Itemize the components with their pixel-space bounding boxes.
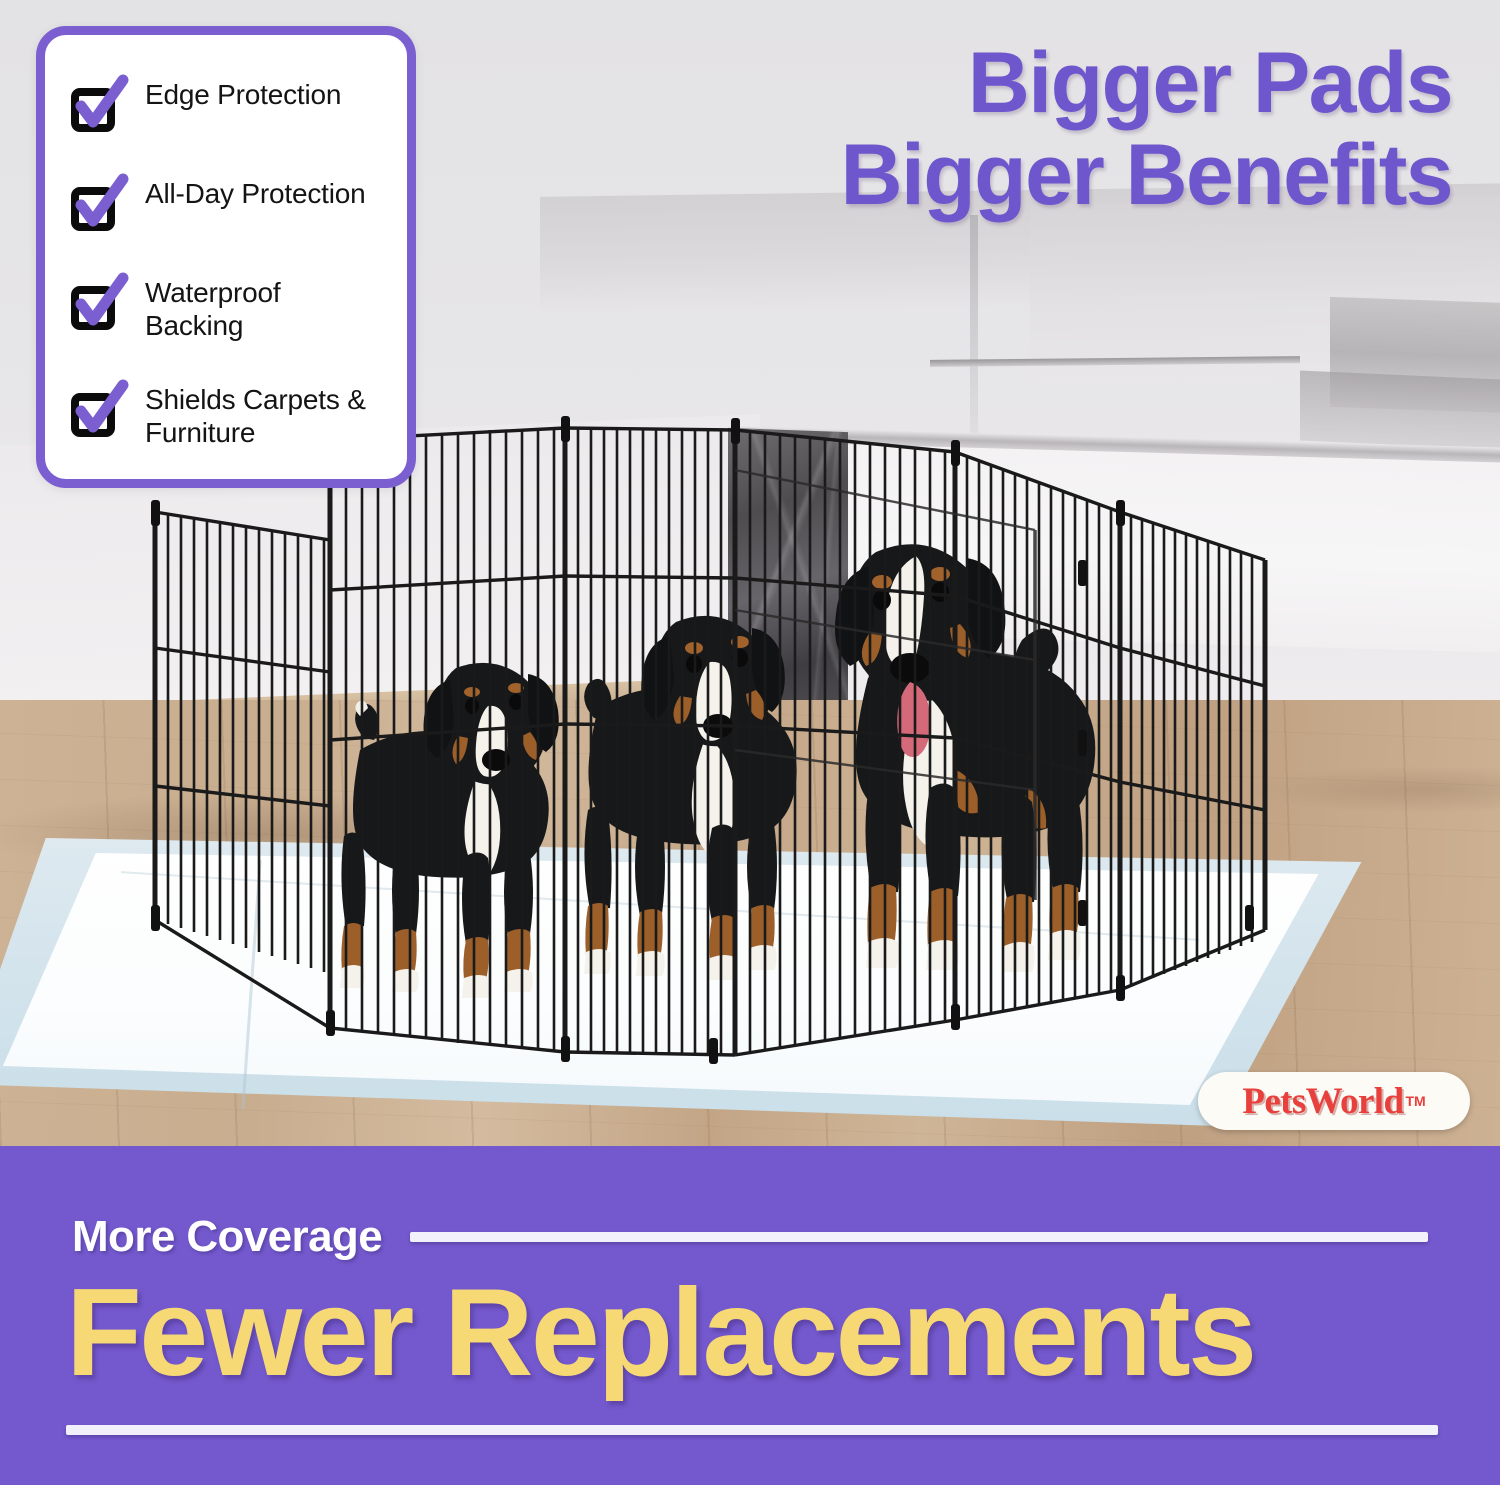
- banner-headline: Fewer Replacements: [66, 1268, 1446, 1398]
- checkbox-check-icon: [67, 383, 129, 441]
- banner-eyebrow: More Coverage: [72, 1212, 382, 1262]
- feature-item-waterproof-backing: Waterproof Backing: [63, 272, 389, 344]
- feature-label: Edge Protection: [145, 76, 341, 111]
- dog-right-large: [770, 530, 1100, 1000]
- checkbox-check-icon: [67, 78, 129, 136]
- checkbox-check-icon: [67, 276, 129, 334]
- feature-item-edge-protection: Edge Protection: [63, 74, 389, 138]
- feature-label: Shields Carpets & Furniture: [145, 381, 385, 449]
- brand-name: PetsWorld: [1242, 1080, 1403, 1123]
- feature-list-card: Edge Protection All-Day Protection: [36, 26, 416, 488]
- banner-rule-bottom: [66, 1425, 1438, 1435]
- upper-cabinet-shadow: [1300, 370, 1500, 449]
- brand-logo: PetsWorldTM: [1198, 1072, 1470, 1130]
- glass-divider: [970, 215, 978, 445]
- product-lifestyle-photo: Edge Protection All-Day Protection: [0, 0, 1500, 1148]
- feature-label: Waterproof Backing: [145, 274, 385, 342]
- bottom-banner: More Coverage Fewer Replacements: [0, 1146, 1500, 1485]
- feature-item-shields-carpets-furniture: Shields Carpets & Furniture: [63, 379, 389, 451]
- feature-label: All-Day Protection: [145, 175, 365, 210]
- feature-item-all-day-protection: All-Day Protection: [63, 173, 389, 237]
- trademark-symbol: TM: [1405, 1093, 1425, 1109]
- banner-rule-top: [410, 1232, 1428, 1242]
- product-marketing-image: Edge Protection All-Day Protection: [0, 0, 1500, 1485]
- headline-line-2: Bigger Benefits: [772, 132, 1452, 220]
- banner-eyebrow-row: More Coverage: [72, 1212, 1428, 1262]
- headline-block: Bigger Pads Bigger Benefits: [772, 40, 1452, 219]
- headline-line-1: Bigger Pads: [772, 40, 1452, 128]
- checkbox-check-icon: [67, 177, 129, 235]
